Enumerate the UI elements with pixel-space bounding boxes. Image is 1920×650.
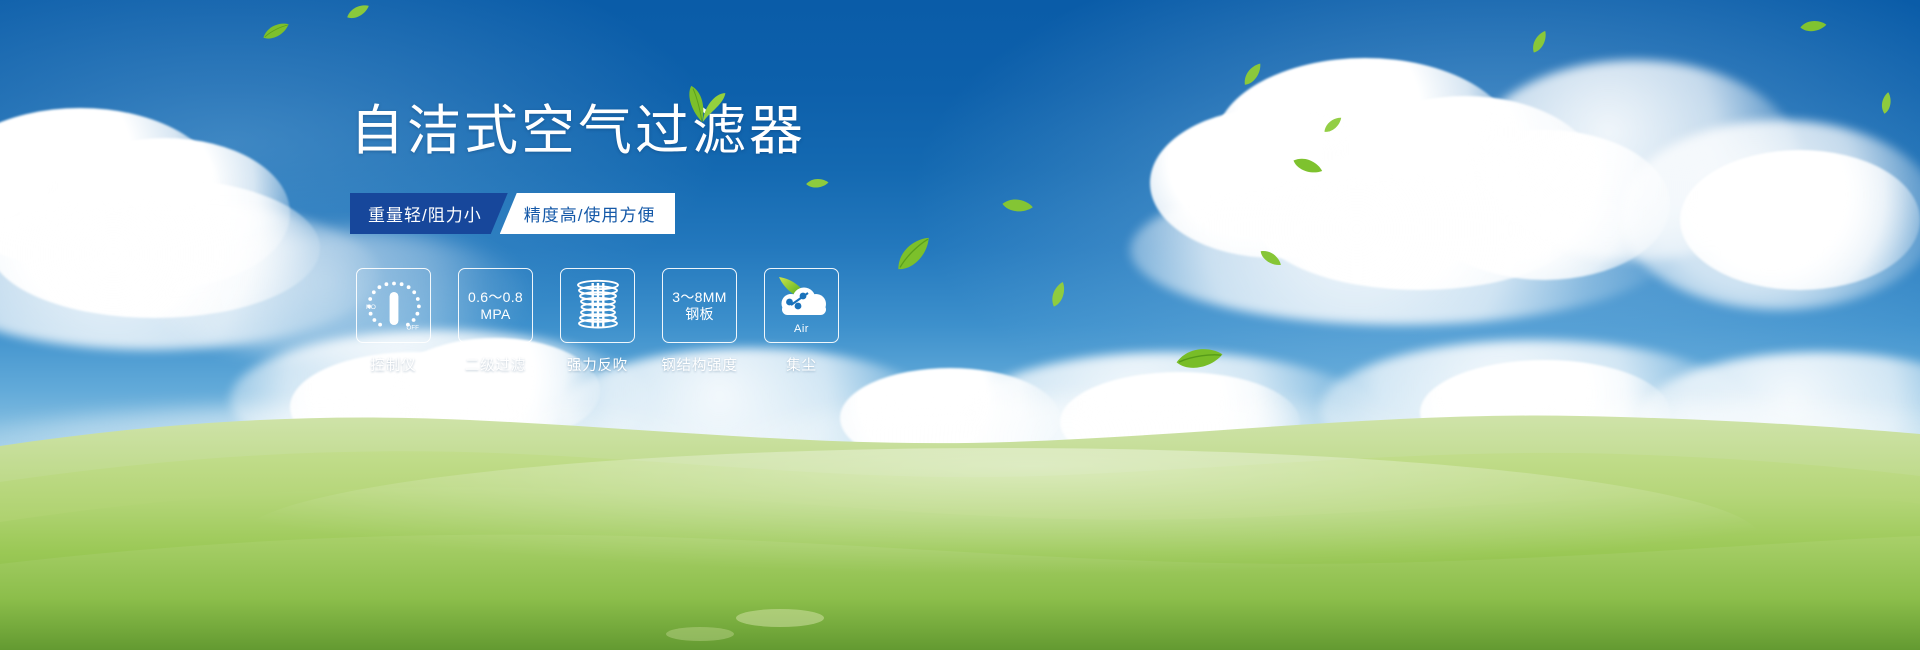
feature-label: 钢结构强度 bbox=[661, 354, 738, 375]
grass-landscape bbox=[0, 350, 1920, 650]
feature-value-line2: MPA bbox=[480, 306, 510, 323]
feature-label: 二级过滤 bbox=[465, 354, 526, 375]
floating-leaf-icon bbox=[346, 4, 370, 21]
feature-icon-row: NO OFF 控制仪 0.6～0.8 MPA 二级过滤 bbox=[356, 268, 839, 375]
feature-box: 3～8MM 钢板 bbox=[662, 268, 737, 343]
feature-value-line1: 3～8MM bbox=[672, 289, 726, 306]
feature-label: 控制仪 bbox=[371, 354, 417, 375]
title-leaf-decoration-icon bbox=[675, 82, 729, 124]
dial-label-no: NO bbox=[366, 304, 376, 311]
product-hero-banner: 自洁式空气过滤器 重量轻/阻力小 精度高/使用方便 bbox=[0, 0, 1920, 650]
feature-item-reverse-blow[interactable]: 强力反吹 bbox=[560, 268, 635, 375]
hero-text-block: 自洁式空气过滤器 bbox=[350, 104, 1070, 158]
tag-precision-ease[interactable]: 精度高/使用方便 bbox=[500, 193, 676, 234]
feature-item-controller[interactable]: NO OFF 控制仪 bbox=[356, 268, 431, 375]
feature-value-line1: 0.6～0.8 bbox=[468, 289, 523, 306]
feature-item-dust-collection[interactable]: Air 集尘 bbox=[764, 268, 839, 375]
spring-coil-icon bbox=[563, 271, 633, 341]
feature-value-line2: 钢板 bbox=[685, 306, 714, 323]
feature-label: 强力反吹 bbox=[567, 354, 628, 375]
feature-box: NO OFF bbox=[356, 268, 431, 343]
feature-label: 集尘 bbox=[786, 354, 817, 375]
floating-leaf-icon bbox=[262, 22, 290, 42]
feature-box: Air bbox=[764, 268, 839, 343]
feature-item-steel-strength[interactable]: 3～8MM 钢板 钢结构强度 bbox=[662, 268, 737, 375]
feature-box: 0.6～0.8 MPA bbox=[458, 268, 533, 343]
feature-tag-row: 重量轻/阻力小 精度高/使用方便 bbox=[350, 193, 675, 234]
dial-label-off: OFF bbox=[406, 324, 419, 331]
dial-gauge-icon: NO OFF bbox=[359, 271, 429, 341]
feature-caption-air: Air bbox=[765, 323, 838, 335]
feature-box bbox=[560, 268, 635, 343]
tag-weight-resistance[interactable]: 重量轻/阻力小 bbox=[350, 193, 508, 234]
feature-item-two-stage-filter[interactable]: 0.6～0.8 MPA 二级过滤 bbox=[458, 268, 533, 375]
